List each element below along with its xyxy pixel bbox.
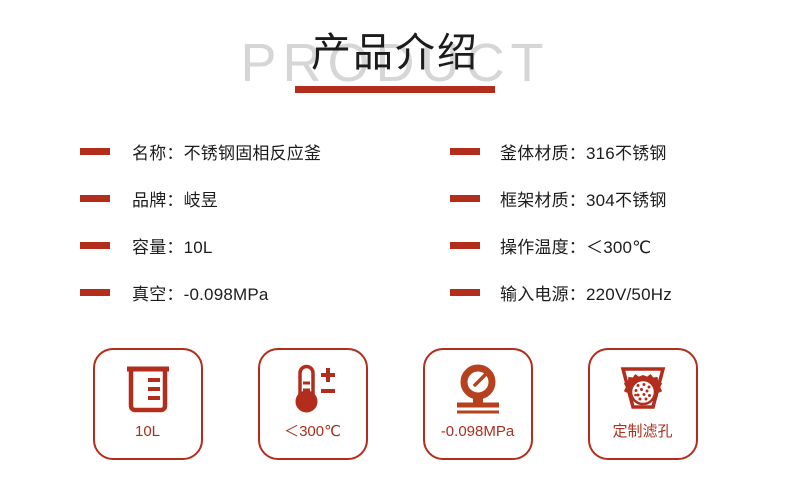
bullet-dash-icon — [450, 289, 480, 296]
beaker-icon — [122, 362, 174, 420]
feature-card-temperature: ＜300℃ — [258, 348, 368, 460]
spec-text: 真空：-0.098MPa — [132, 280, 269, 305]
feature-card-vacuum: -0.098MPa — [423, 348, 533, 460]
feature-card-label: 定制滤孔 — [612, 424, 672, 439]
spec-text: 输入电源：220V/50Hz — [500, 280, 672, 305]
bullet-dash-icon — [450, 148, 480, 155]
spec-item-power-supply: 输入电源：220V/50Hz — [450, 269, 780, 316]
page-title: 产品介绍 — [0, 33, 790, 73]
bullet-dash-icon — [450, 195, 480, 202]
pressure-gauge-icon — [449, 362, 507, 420]
spec-text: 框架材质：304不锈钢 — [500, 186, 667, 211]
spec-item-vessel-material: 釜体材质：316不锈钢 — [450, 128, 780, 175]
spec-list: 名称：不锈钢固相反应釜 釜体材质：316不锈钢 品牌：岐昱 框架材质：304不锈… — [0, 128, 790, 316]
feature-card-filter: 定制滤孔 — [588, 348, 698, 460]
spec-text: 容量：10L — [132, 233, 213, 258]
spec-text: 名称：不锈钢固相反应釜 — [132, 139, 321, 164]
title-underline — [295, 86, 495, 93]
spec-item-operating-temperature: 操作温度：＜300℃ — [450, 222, 780, 269]
page-header: PRODUCT 产品介绍 — [0, 0, 790, 105]
feature-card-capacity: 10L — [93, 348, 203, 460]
feature-card-label: 10L — [135, 424, 160, 439]
spec-text: 釜体材质：316不锈钢 — [500, 139, 667, 164]
filter-hole-icon — [615, 362, 671, 420]
spec-item-capacity: 容量：10L — [80, 222, 450, 269]
spec-item-frame-material: 框架材质：304不锈钢 — [450, 175, 780, 222]
feature-card-list: 10L ＜300℃ — [0, 348, 790, 460]
spec-item-brand: 品牌：岐昱 — [80, 175, 450, 222]
bullet-dash-icon — [80, 195, 110, 202]
spec-item-name: 名称：不锈钢固相反应釜 — [80, 128, 450, 175]
feature-card-label: ＜300℃ — [284, 424, 341, 439]
spec-text: 品牌：岐昱 — [132, 186, 218, 211]
spec-item-vacuum: 真空：-0.098MPa — [80, 269, 450, 316]
bullet-dash-icon — [80, 242, 110, 249]
bullet-dash-icon — [80, 289, 110, 296]
bullet-dash-icon — [450, 242, 480, 249]
spec-text: 操作温度：＜300℃ — [500, 233, 651, 258]
feature-card-label: -0.098MPa — [441, 424, 514, 439]
bullet-dash-icon — [80, 148, 110, 155]
thermometer-icon — [285, 362, 341, 420]
